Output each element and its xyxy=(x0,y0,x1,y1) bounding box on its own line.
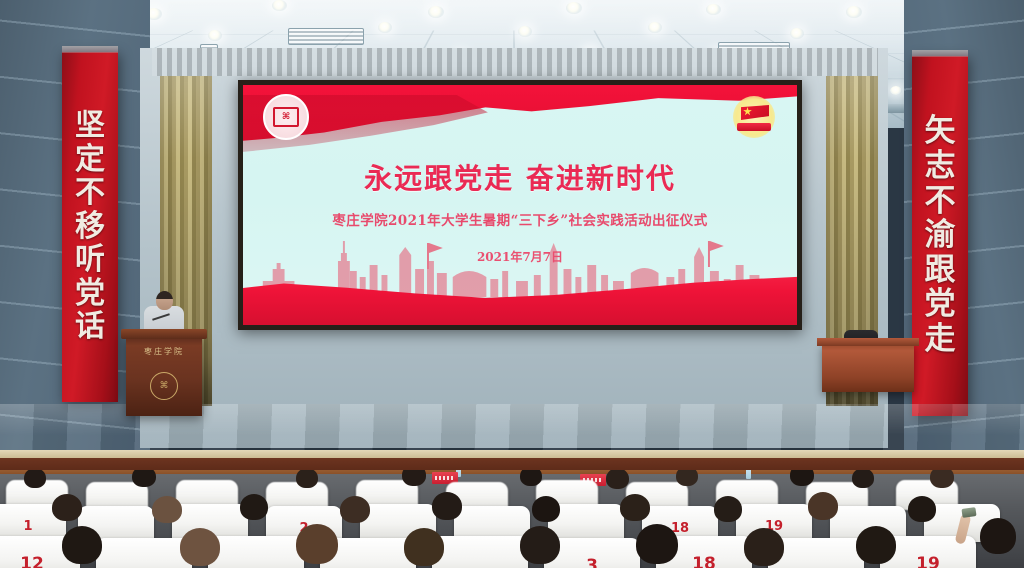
banner-char: 不 xyxy=(75,178,105,209)
banner-char: 渝 xyxy=(925,220,956,252)
league-flag-shape xyxy=(741,105,769,120)
banner-char: 走 xyxy=(925,324,956,356)
audience-seating-area: 1 2 18 19 12 xyxy=(0,470,1024,568)
downlight-icon xyxy=(566,2,582,14)
audience-head xyxy=(296,470,318,488)
audience-seat xyxy=(96,538,192,568)
audience-head xyxy=(980,518,1016,554)
audience-head xyxy=(296,524,338,564)
smartphone-icon[interactable] xyxy=(961,507,976,518)
stage-table-top xyxy=(817,338,919,346)
banner-char: 听 xyxy=(75,245,105,276)
banner-char: 跟 xyxy=(925,255,956,287)
podium-label: 枣庄学院 xyxy=(126,346,202,357)
downlight-icon xyxy=(790,28,804,39)
seal-inner-mark: ⌘ xyxy=(273,107,299,127)
university-seal-icon: ⌘ xyxy=(150,372,178,400)
audience-head xyxy=(404,528,444,566)
podium: 枣庄学院 ⌘ xyxy=(126,336,202,416)
led-screen-frame: ⌘ xyxy=(238,80,802,330)
audience-head xyxy=(852,470,874,488)
audience-head xyxy=(132,470,156,487)
seat-number: 1 xyxy=(0,519,66,534)
audience-head xyxy=(52,494,82,521)
audience-head xyxy=(152,496,182,523)
audience-head xyxy=(908,496,936,522)
audience-head xyxy=(24,470,46,488)
downlight-icon xyxy=(378,22,392,33)
audience-head xyxy=(744,528,784,566)
audience-head xyxy=(930,470,954,488)
banner-char: 党 xyxy=(75,279,105,310)
banner-char: 党 xyxy=(925,289,956,321)
banner-fold xyxy=(62,46,118,53)
speaker-head xyxy=(156,291,173,310)
banner-char: 定 xyxy=(75,145,105,176)
water-bottle-icon xyxy=(746,470,751,479)
banner-char: 话 xyxy=(75,312,105,343)
banner-char: 矢 xyxy=(925,116,956,148)
audience-head xyxy=(340,496,370,523)
audience-seat xyxy=(208,536,304,568)
right-vertical-banner: 矢 志 不 渝 跟 党 走 xyxy=(912,56,968,416)
stage-table xyxy=(822,344,914,392)
audience-head xyxy=(606,470,629,489)
audience-head xyxy=(402,470,426,486)
screen-subtitle: 枣庄学院2021年大学生暑期“三下乡”社会实践活动出征仪式 xyxy=(243,209,797,229)
audience-head xyxy=(808,492,838,520)
audience-head xyxy=(676,470,698,486)
screen-main-title: 永远跟党走 奋进新时代 xyxy=(243,157,797,197)
audience-seat xyxy=(432,536,528,568)
audience-head xyxy=(790,470,814,486)
audience-head xyxy=(432,492,462,520)
communist-youth-league-emblem-icon xyxy=(733,96,775,138)
downlight-icon xyxy=(846,6,862,18)
seat-number: 19 xyxy=(880,554,976,568)
curtain-valance xyxy=(152,48,878,76)
audience-head xyxy=(856,526,896,564)
left-vertical-banner: 坚 定 不 移 听 党 话 xyxy=(62,52,118,402)
audience-head xyxy=(620,494,650,521)
downlight-icon xyxy=(272,0,287,11)
audience-head xyxy=(520,526,560,564)
audience-head xyxy=(62,526,102,564)
downlight-icon xyxy=(518,26,532,37)
banner-char: 不 xyxy=(925,186,956,218)
downlight-icon xyxy=(706,4,721,15)
downlight-icon xyxy=(648,22,662,33)
led-screen: ⌘ xyxy=(243,85,797,325)
banner-char: 移 xyxy=(75,212,105,243)
audience-head xyxy=(240,494,268,520)
audience-head xyxy=(532,496,560,522)
league-ribbon xyxy=(737,123,771,131)
banner-fold xyxy=(912,50,968,57)
audience-head xyxy=(636,524,678,564)
screen-date: 2021年7月7日 xyxy=(243,248,797,265)
podium-top xyxy=(121,329,207,339)
auditorium-ceremony-photo: 坚 定 不 移 听 党 话 矢 志 不 渝 跟 党 走 ⌘ xyxy=(0,0,1024,568)
audience-head xyxy=(714,496,742,522)
audience-head xyxy=(520,470,542,486)
seat-number: 3 xyxy=(544,556,640,568)
banner-char: 坚 xyxy=(75,111,105,142)
downlight-icon xyxy=(208,30,222,41)
downlight-icon xyxy=(428,6,444,18)
audience-head xyxy=(180,528,220,566)
university-seal-icon: ⌘ xyxy=(263,94,309,140)
downlight-icon xyxy=(890,86,902,95)
air-vent-icon xyxy=(288,28,364,45)
banner-char: 志 xyxy=(925,151,956,183)
